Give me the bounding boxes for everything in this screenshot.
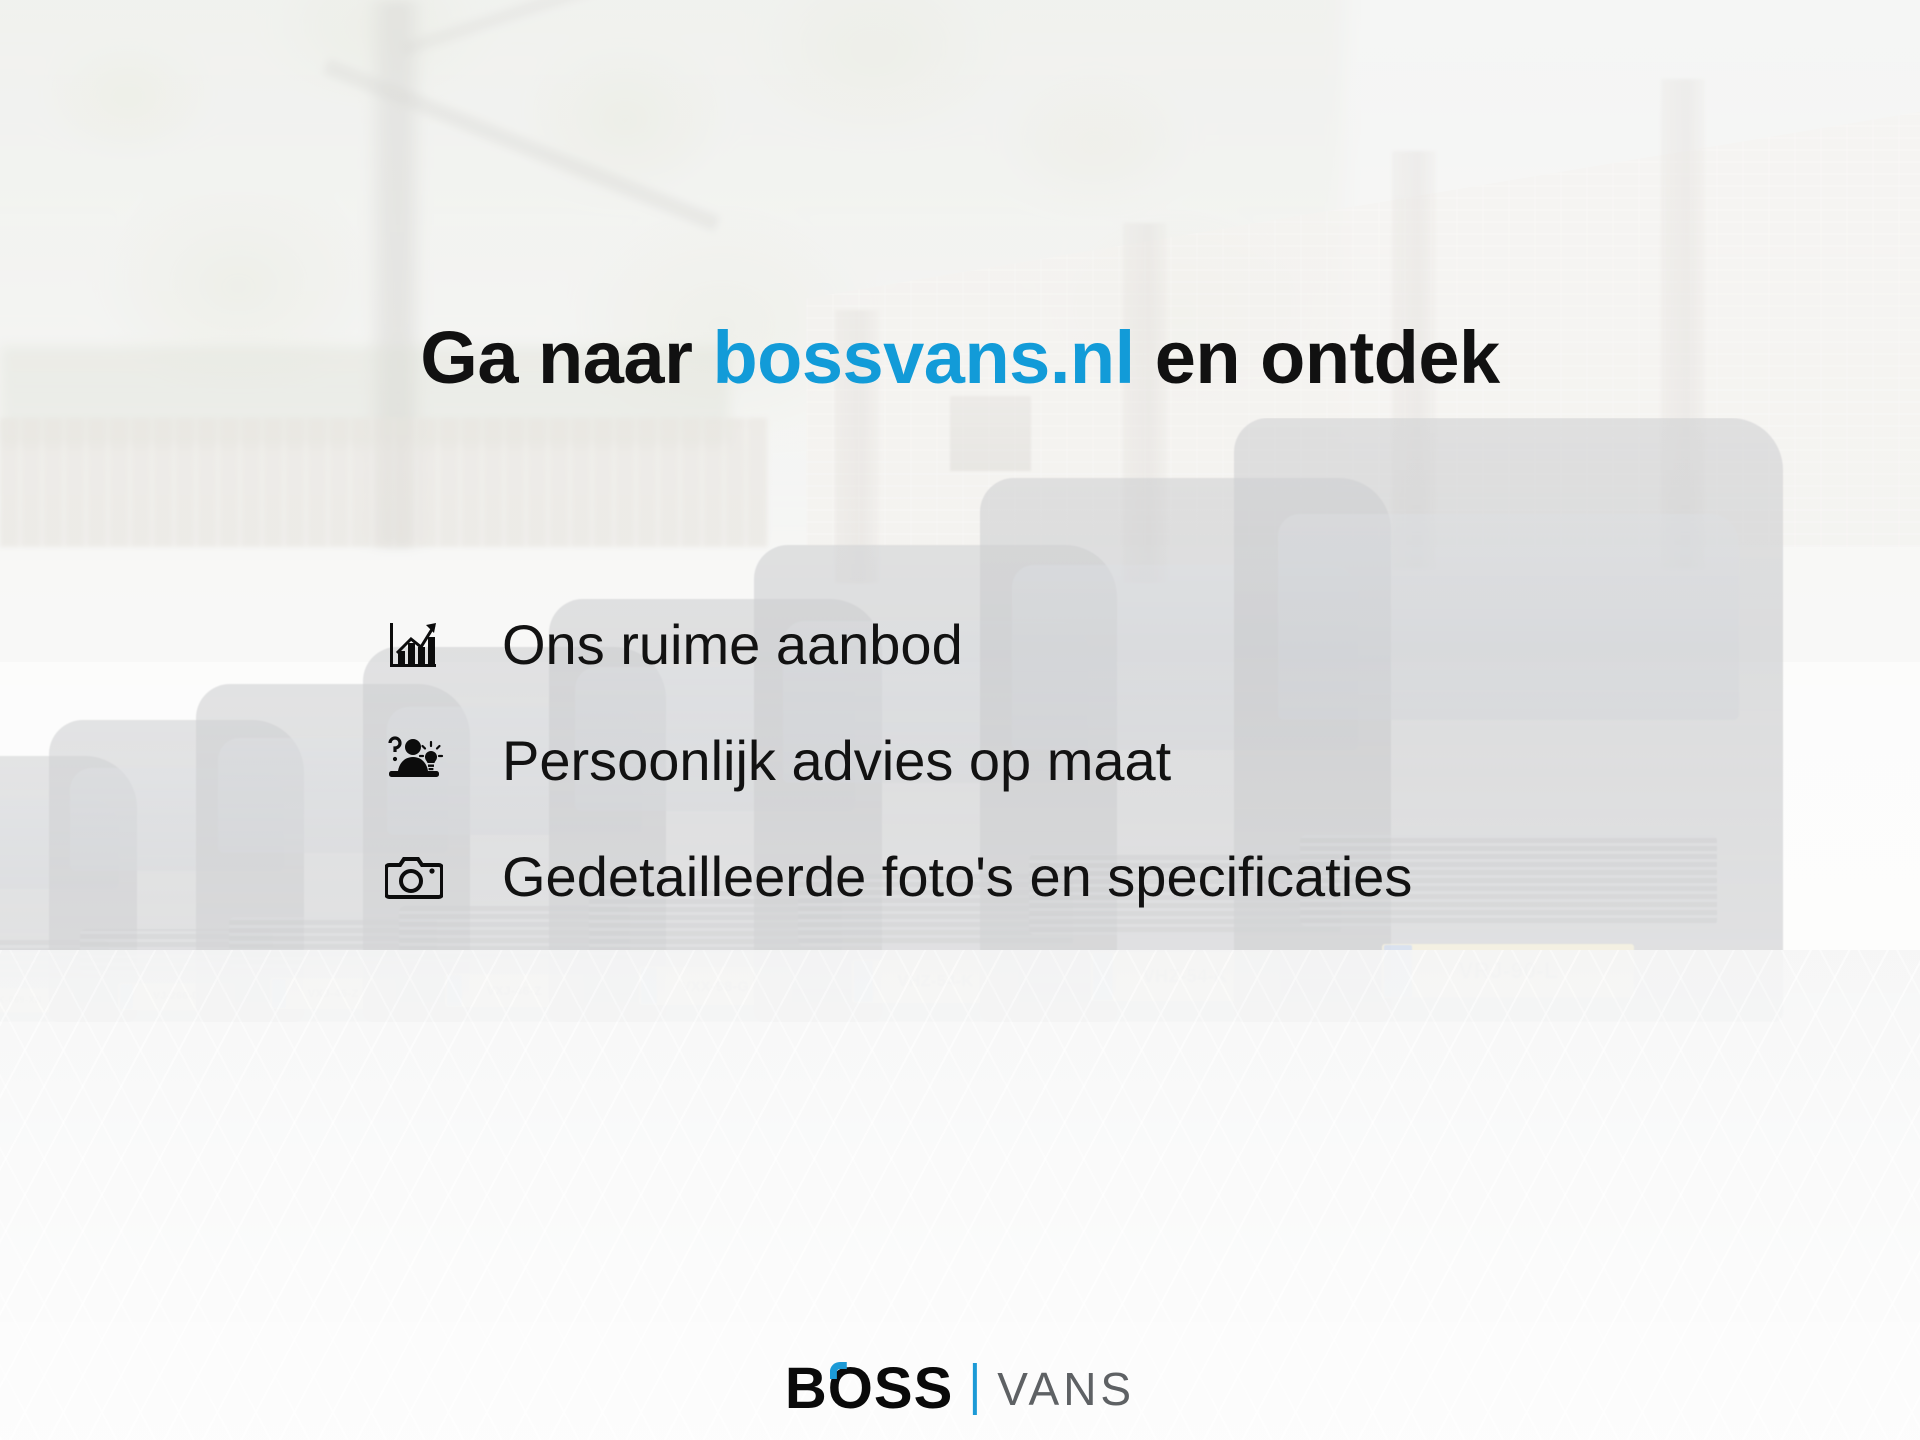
logo-letter-b: B [785,1360,828,1418]
boss-vans-logo: B O SS VANS [785,1360,1135,1418]
logo-letters-ss: SS [874,1360,953,1418]
headline-prefix: Ga naar [420,316,712,399]
logo-letter-o-wrapper: O [828,1360,874,1418]
camera-icon [378,846,450,908]
list-item: Gedetailleerde foto's en specificaties [378,846,1412,908]
headline-suffix: en ontdek [1135,316,1500,399]
logo-wordmark: B O SS [785,1360,953,1418]
feature-list: Ons ruime aanbod [378,614,1412,908]
slide-content: Ga naar bossvans.nl en ontdek Ons [0,0,1920,1440]
list-item-label: Ons ruime aanbod [502,614,963,676]
logo-subtitle: VANS [997,1366,1135,1412]
page-title: Ga naar bossvans.nl en ontdek [0,318,1920,398]
list-item: Ons ruime aanbod [378,614,1412,676]
logo-divider [973,1363,977,1415]
headline-brand: bossvans.nl [712,316,1134,399]
logo-letter-o: O [828,1356,874,1421]
list-item: Persoonlijk advies op maat [378,730,1412,792]
presentation-slide: K-069-XN VJ-266-D VXJ-46-Z [0,0,1920,1440]
bar-chart-growth-icon [378,614,450,676]
list-item-label: Persoonlijk advies op maat [502,730,1171,792]
list-item-label: Gedetailleerde foto's en specificaties [502,846,1412,908]
personal-advice-icon [378,730,450,792]
